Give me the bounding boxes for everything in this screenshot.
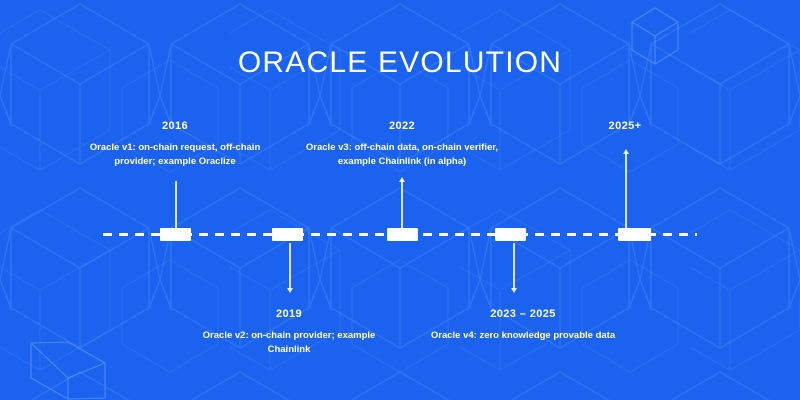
connector-2023-2025 <box>513 243 515 289</box>
timeline-marker-2019[interactable] <box>272 228 303 241</box>
arrow-up-icon <box>623 149 629 154</box>
timeline-marker-2025plus[interactable] <box>618 228 651 241</box>
entry-year-2025plus: 2025+ <box>560 120 690 132</box>
slide-canvas: ORACLE EVOLUTION 2016 Oracle v1: on-chai… <box>0 0 800 400</box>
entry-description-2022: Oracle v3: off-chain data, on-chain veri… <box>297 141 507 170</box>
entry-description-2019: Oracle v2: on-chain provider; example Ch… <box>199 329 379 358</box>
timeline-entry-2023-2025[interactable]: 2023 – 2025 Oracle v4: zero knowledge pr… <box>428 308 618 343</box>
arrow-down-icon <box>511 288 517 293</box>
timeline-entry-2025plus[interactable]: 2025+ <box>560 120 690 141</box>
entry-description-2016: Oracle v1: on-chain request, off-chain p… <box>72 141 278 170</box>
timeline-marker-2023-2025[interactable] <box>495 228 526 241</box>
connector-2022 <box>401 181 403 228</box>
entry-year-2016: 2016 <box>72 120 278 132</box>
timeline-entry-2019[interactable]: 2019 Oracle v2: on-chain provider; examp… <box>199 308 379 358</box>
entry-description-2023-2025: Oracle v4: zero knowledge provable data <box>428 329 618 343</box>
arrow-down-icon <box>287 288 293 293</box>
connector-2016 <box>175 181 177 228</box>
timeline-marker-2022[interactable] <box>387 228 418 241</box>
connector-2025plus <box>625 153 627 228</box>
timeline-marker-2016[interactable] <box>160 228 191 241</box>
timeline-entry-2016[interactable]: 2016 Oracle v1: on-chain request, off-ch… <box>72 120 278 170</box>
entry-year-2019: 2019 <box>199 308 379 320</box>
entry-year-2022: 2022 <box>297 120 507 132</box>
arrow-up-icon <box>399 177 405 182</box>
timeline-entry-2022[interactable]: 2022 Oracle v3: off-chain data, on-chain… <box>297 120 507 170</box>
connector-2019 <box>289 243 291 289</box>
entry-year-2023-2025: 2023 – 2025 <box>428 308 618 320</box>
slide-title: ORACLE EVOLUTION <box>0 46 800 80</box>
